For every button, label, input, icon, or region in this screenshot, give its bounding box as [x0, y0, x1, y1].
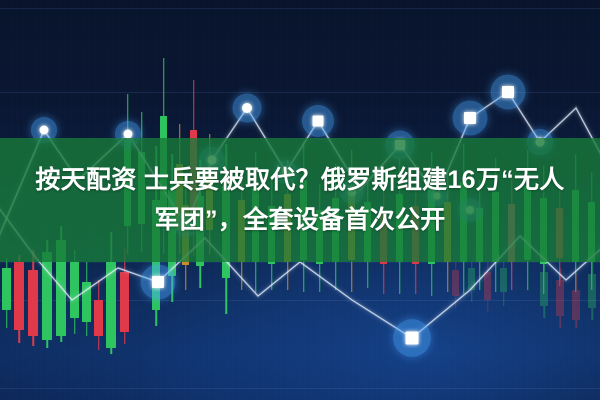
node-marker-square: [313, 116, 324, 127]
node-marker-square: [152, 276, 164, 288]
thumbnail-image: 按天配资 士兵要被取代？俄罗斯组建16万“无人 军团”，全套设备首次公开: [0, 0, 600, 400]
node-marker-square: [502, 86, 514, 98]
headline-text-block: 按天配资 士兵要被取代？俄罗斯组建16万“无人 军团”，全套设备首次公开: [20, 160, 580, 240]
node-marker-square: [464, 112, 476, 124]
headline-banner: 按天配资 士兵要被取代？俄罗斯组建16万“无人 军团”，全套设备首次公开: [0, 138, 600, 262]
headline-line-2: 军团”，全套设备首次公开: [20, 200, 580, 240]
node-marker-circle: [242, 103, 252, 113]
node-marker-circle: [40, 126, 49, 135]
headline-line-1: 按天配资 士兵要被取代？俄罗斯组建16万“无人: [20, 160, 580, 200]
node-marker-square: [406, 332, 419, 345]
